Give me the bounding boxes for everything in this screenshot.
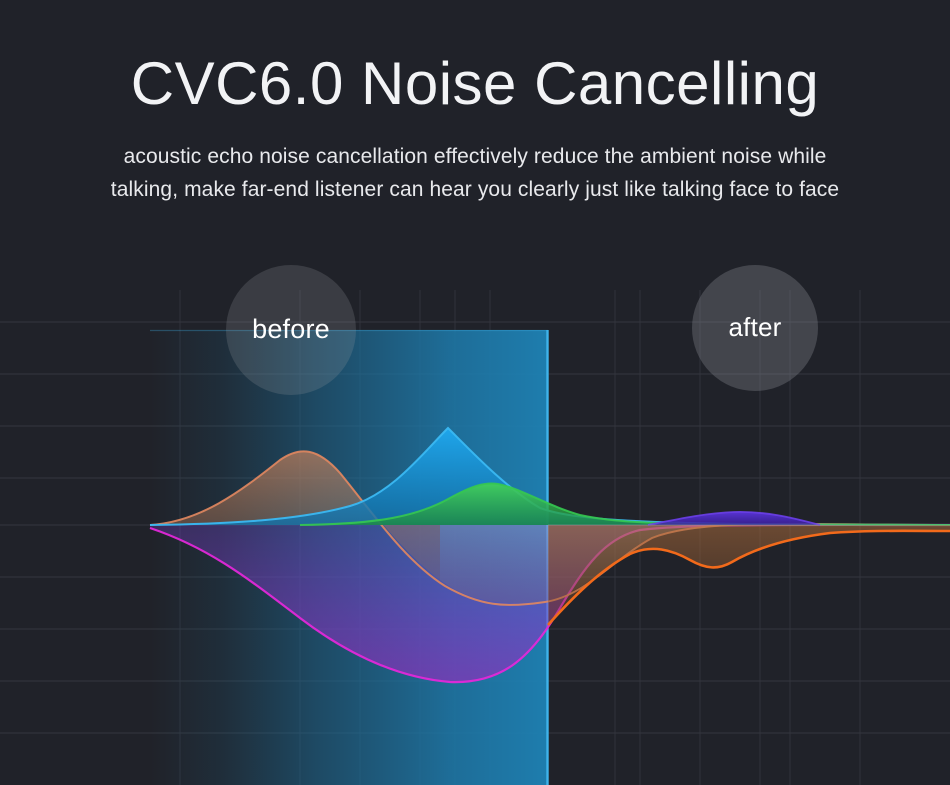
subtitle-line-2: talking, make far-end listener can hear … — [0, 173, 950, 206]
series-indigo-bump — [648, 512, 820, 525]
series-orange-tail — [548, 525, 950, 625]
label-bubble-before-text: before — [252, 314, 330, 345]
label-bubble-after-text: after — [728, 312, 781, 343]
page-title: CVC6.0 Noise Cancelling — [0, 52, 950, 115]
page-subtitle: acoustic echo noise cancellation effecti… — [0, 140, 950, 206]
subtitle-line-1: acoustic echo noise cancellation effecti… — [0, 140, 950, 173]
promo-banner: CVC6.0 Noise Cancelling acoustic echo no… — [0, 0, 950, 785]
label-bubble-before: before — [226, 265, 356, 395]
label-bubble-after: after — [692, 265, 818, 391]
